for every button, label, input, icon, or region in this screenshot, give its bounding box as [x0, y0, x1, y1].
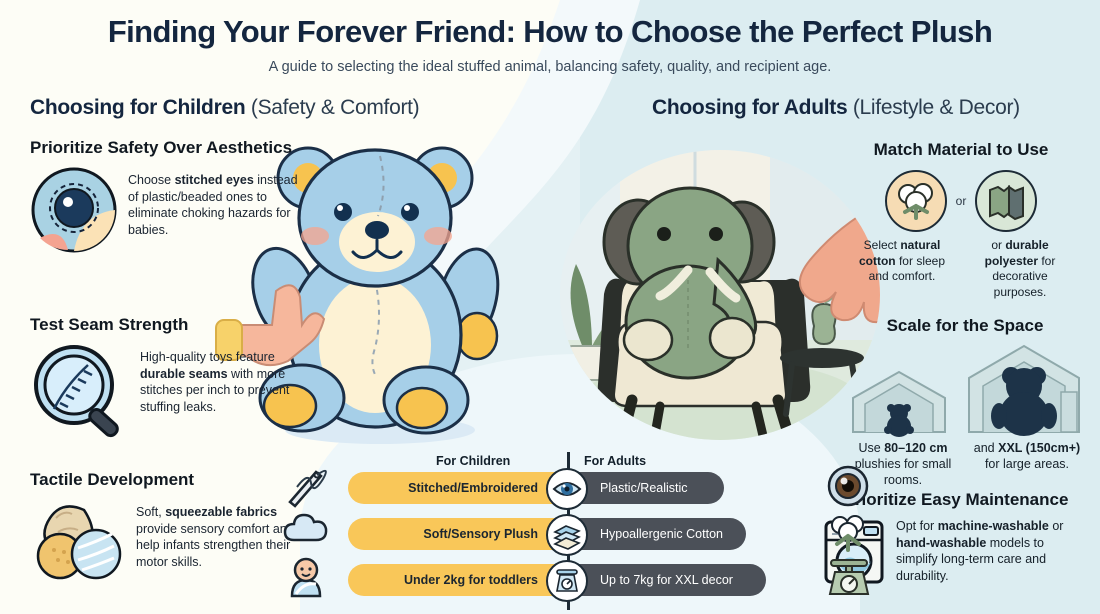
elephant-scene-illustration — [560, 150, 880, 440]
scale-caption-right: and XXL (150cm+) for large areas. — [970, 440, 1084, 488]
text-part: Choose — [128, 173, 175, 187]
text-part: High-quality toys feature — [140, 350, 275, 364]
realistic-eye-icon — [826, 464, 870, 508]
or-label: or — [956, 194, 967, 208]
page-subtitle: A guide to selecting the ideal stuffed a… — [0, 59, 1100, 75]
text-part: for large areas. — [985, 457, 1069, 471]
section-heading-adults-main: Choosing for Adults — [652, 96, 847, 119]
needle-thread-icon — [284, 464, 328, 508]
block-prioritize-safety: Prioritize Safety Over Aesthetics Choose… — [30, 138, 298, 254]
material-caption-left: Select natural cotton for sleep and comf… — [850, 238, 954, 300]
block-text: High-quality toys feature durable seams … — [140, 343, 310, 416]
infographic-canvas: Finding Your Forever Friend: How to Choo… — [0, 0, 1100, 614]
block-scale-for-space: Scale for the Space — [840, 316, 1090, 488]
block-title: Scale for the Space — [840, 316, 1090, 336]
material-caption-right: or durable polyester for decorative purp… — [968, 238, 1072, 300]
text-part: Select — [864, 238, 901, 252]
text-part: provide sensory comfort and help infants… — [136, 522, 294, 569]
text-part: or — [991, 238, 1005, 252]
stitched-eye-node-icon — [546, 468, 588, 510]
text-bold: hand-washable — [896, 536, 986, 550]
fabric-stack-icon — [546, 514, 588, 556]
text-part: or — [1049, 519, 1064, 533]
section-heading-children-main: Choosing for Children — [30, 96, 245, 119]
baby-icon — [284, 556, 328, 600]
comparison-row: Soft/Sensory Plush Hypoallergenic Cotton — [318, 518, 818, 552]
kitchen-scale-icon — [826, 556, 870, 600]
text-part: Soft, — [136, 505, 165, 519]
cotton-boll-icon — [826, 510, 870, 554]
comparison-row: Under 2kg for toddlers Up to 7kg for XXL… — [318, 564, 818, 598]
fabric-swatches-icon — [30, 498, 126, 584]
block-text: Soft, squeezable fabrics provide sensory… — [136, 498, 306, 571]
block-text: Choose stitched eyes instead of plastic/… — [128, 166, 298, 239]
weight-scale-node-icon — [546, 560, 588, 602]
maintenance-text: Opt for machine-washable or hand-washabl… — [896, 518, 1078, 585]
block-title: Match Material to Use — [836, 140, 1086, 160]
page-title: Finding Your Forever Friend: How to Choo… — [0, 14, 1100, 50]
block-title: Tactile Development — [30, 470, 306, 490]
block-title: Test Seam Strength — [30, 315, 310, 335]
text-bold: squeezable fabrics — [165, 505, 277, 519]
section-heading-adults-paren: (Lifestyle & Decor) — [847, 96, 1020, 119]
text-bold: XXL (150cm+) — [998, 441, 1080, 455]
section-heading-adults: Choosing for Adults (Lifestyle & Decor) — [652, 96, 1020, 120]
text-bold: durable seams — [140, 367, 228, 381]
text-part: Use — [859, 441, 885, 455]
block-match-material: Match Material to Use or Select na — [836, 140, 1086, 300]
text-part: and — [974, 441, 998, 455]
text-bold: stitched eyes — [175, 173, 254, 187]
large-room-bear-icon — [965, 344, 1083, 436]
text-bold: 80–120 cm — [884, 441, 947, 455]
text-part: Opt for — [896, 519, 938, 533]
small-room-bear-icon — [847, 368, 951, 436]
cloud-soft-icon — [284, 510, 328, 554]
block-tactile-development: Tactile Development Soft, squeezable fab… — [30, 470, 306, 584]
comparison-table: For Children For Adults Stitched/Embroid… — [318, 448, 818, 614]
text-bold: machine-washable — [938, 519, 1049, 533]
block-test-seam-strength: Test Seam Strength High-quality toys fea… — [30, 315, 310, 439]
column-header-adults: For Adults — [584, 454, 646, 468]
column-header-children: For Children — [436, 454, 510, 468]
stitched-eye-icon — [30, 166, 118, 254]
cotton-boll-icon — [885, 170, 947, 232]
section-heading-children-paren: (Safety & Comfort) — [245, 96, 419, 119]
magnifier-seam-icon — [30, 343, 130, 439]
fabric-polyester-icon — [975, 170, 1037, 232]
section-heading-children: Choosing for Children (Safety & Comfort) — [30, 96, 419, 120]
comparison-row: Stitched/Embroidered Plastic/Realistic — [318, 472, 818, 506]
block-title: Prioritize Safety Over Aesthetics — [30, 138, 298, 158]
